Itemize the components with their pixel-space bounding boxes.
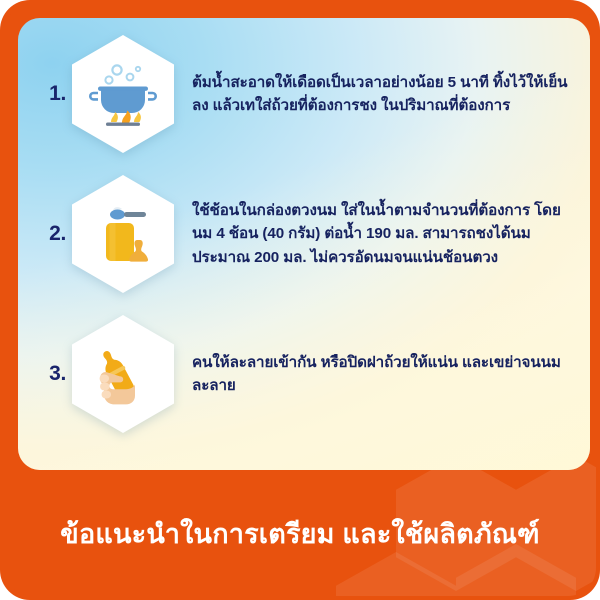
step-description-text: คนให้ละลายเข้ากัน หรือปิดฝาถ้วยให้แน่น แ… xyxy=(192,351,572,397)
step-item: 2. ใช้ช้อนในกล่องตวงนม ใส่ xyxy=(18,164,590,304)
steps-list: 1. xyxy=(18,18,590,444)
step-icon-badge xyxy=(72,35,174,153)
step-description: ใช้ช้อนในกล่องตวงนม ใส่ในน้ำตามจำนวนที่ต… xyxy=(174,199,590,268)
step-icon-badge xyxy=(72,315,174,433)
hand-shaking-bottle-icon xyxy=(85,336,161,412)
bottom-banner: ข้อแนะนำในการเตรียม และใช้ผลิตภัณฑ์ xyxy=(4,470,596,596)
step-description: คนให้ละลายเข้ากัน หรือปิดฝาถ้วยให้แน่น แ… xyxy=(174,351,590,397)
banner-title: ข้อแนะนำในการเตรียม และใช้ผลิตภัณฑ์ xyxy=(60,512,539,555)
step-description-text: ต้มน้ำสะอาดให้เดือดเป็นเวลาอย่างน้อย 5 น… xyxy=(192,71,572,117)
milk-scoop-and-tin-icon xyxy=(85,196,161,272)
step-number: 2. xyxy=(18,222,72,246)
step-icon-badge xyxy=(72,175,174,293)
instruction-panel: 1. xyxy=(18,18,590,470)
step-item: 3. xyxy=(18,304,590,444)
step-description-text: ใช้ช้อนในกล่องตวงนม ใส่ในน้ำตามจำนวนที่ต… xyxy=(192,199,572,268)
orange-frame: 1. xyxy=(4,4,596,596)
poster-root: 1. xyxy=(0,0,600,600)
step-description: ต้มน้ำสะอาดให้เดือดเป็นเวลาอย่างน้อย 5 น… xyxy=(174,71,590,117)
step-item: 1. xyxy=(18,24,590,164)
step-number: 3. xyxy=(18,362,72,386)
boiling-pot-icon xyxy=(85,56,161,132)
step-number: 1. xyxy=(18,82,72,106)
